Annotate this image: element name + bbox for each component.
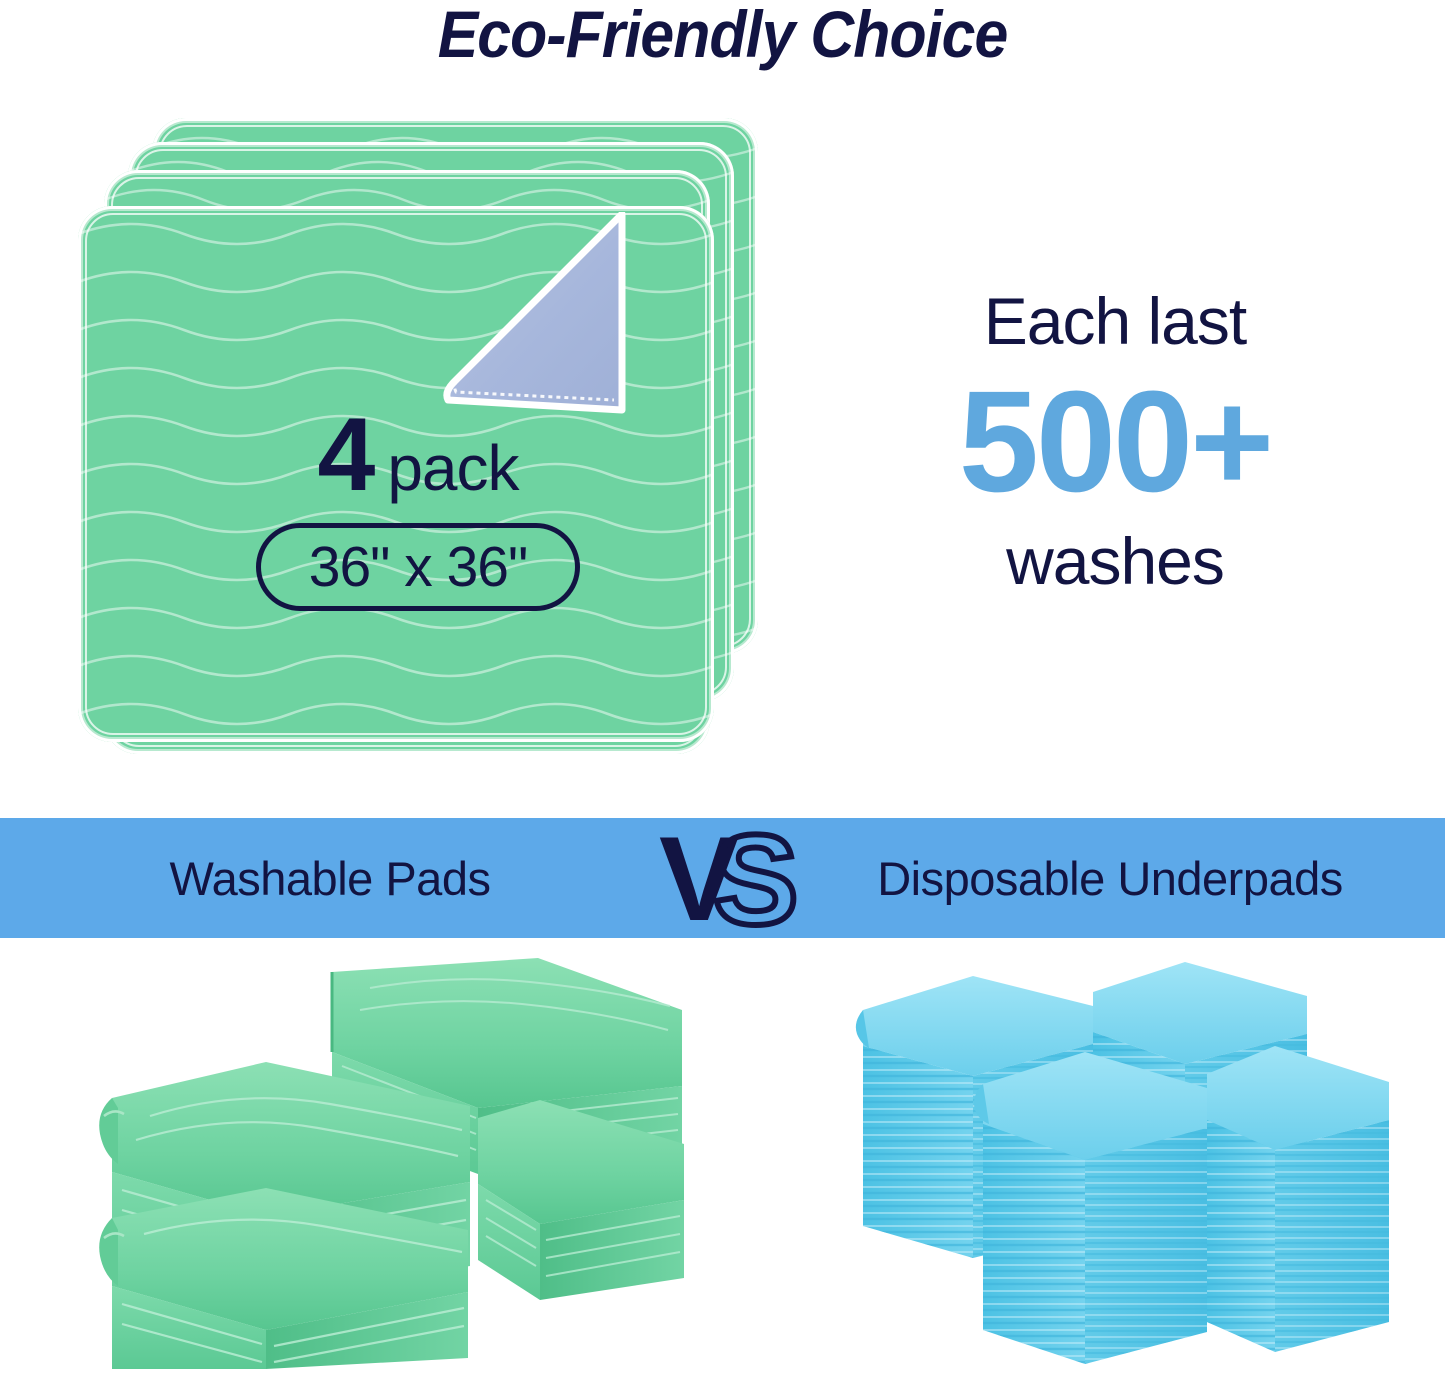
stat-line-bottom: washes xyxy=(880,528,1350,594)
washable-pads-photo xyxy=(70,948,730,1369)
pad-label-group: 4 pack 36" x 36" xyxy=(198,406,638,611)
washes-stat-block: Each last 500+ washes xyxy=(880,288,1350,594)
folded-washable-pads-icon xyxy=(70,948,730,1369)
pack-count-number: 4 xyxy=(317,406,373,505)
pad-size-badge: 36" x 36" xyxy=(256,523,580,611)
banner-label-disposable: Disposable Underpads xyxy=(790,818,1430,938)
disposable-underpads-photo xyxy=(855,948,1395,1369)
stat-number: 500+ xyxy=(880,370,1350,514)
stat-line-top: Each last xyxy=(880,288,1350,354)
hero-pad-stack: 4 pack 36" x 36" xyxy=(78,118,758,758)
page-title: Eco-Friendly Choice xyxy=(58,0,1387,72)
comparison-banner: Washable Pads V S Disposable Underpads xyxy=(0,818,1445,938)
banner-label-washable: Washable Pads xyxy=(0,818,660,938)
svg-text:S: S xyxy=(713,820,798,938)
pack-count-line: 4 pack xyxy=(198,406,638,505)
pack-count-word: pack xyxy=(387,431,518,505)
stacked-disposable-underpads-icon xyxy=(855,948,1395,1369)
